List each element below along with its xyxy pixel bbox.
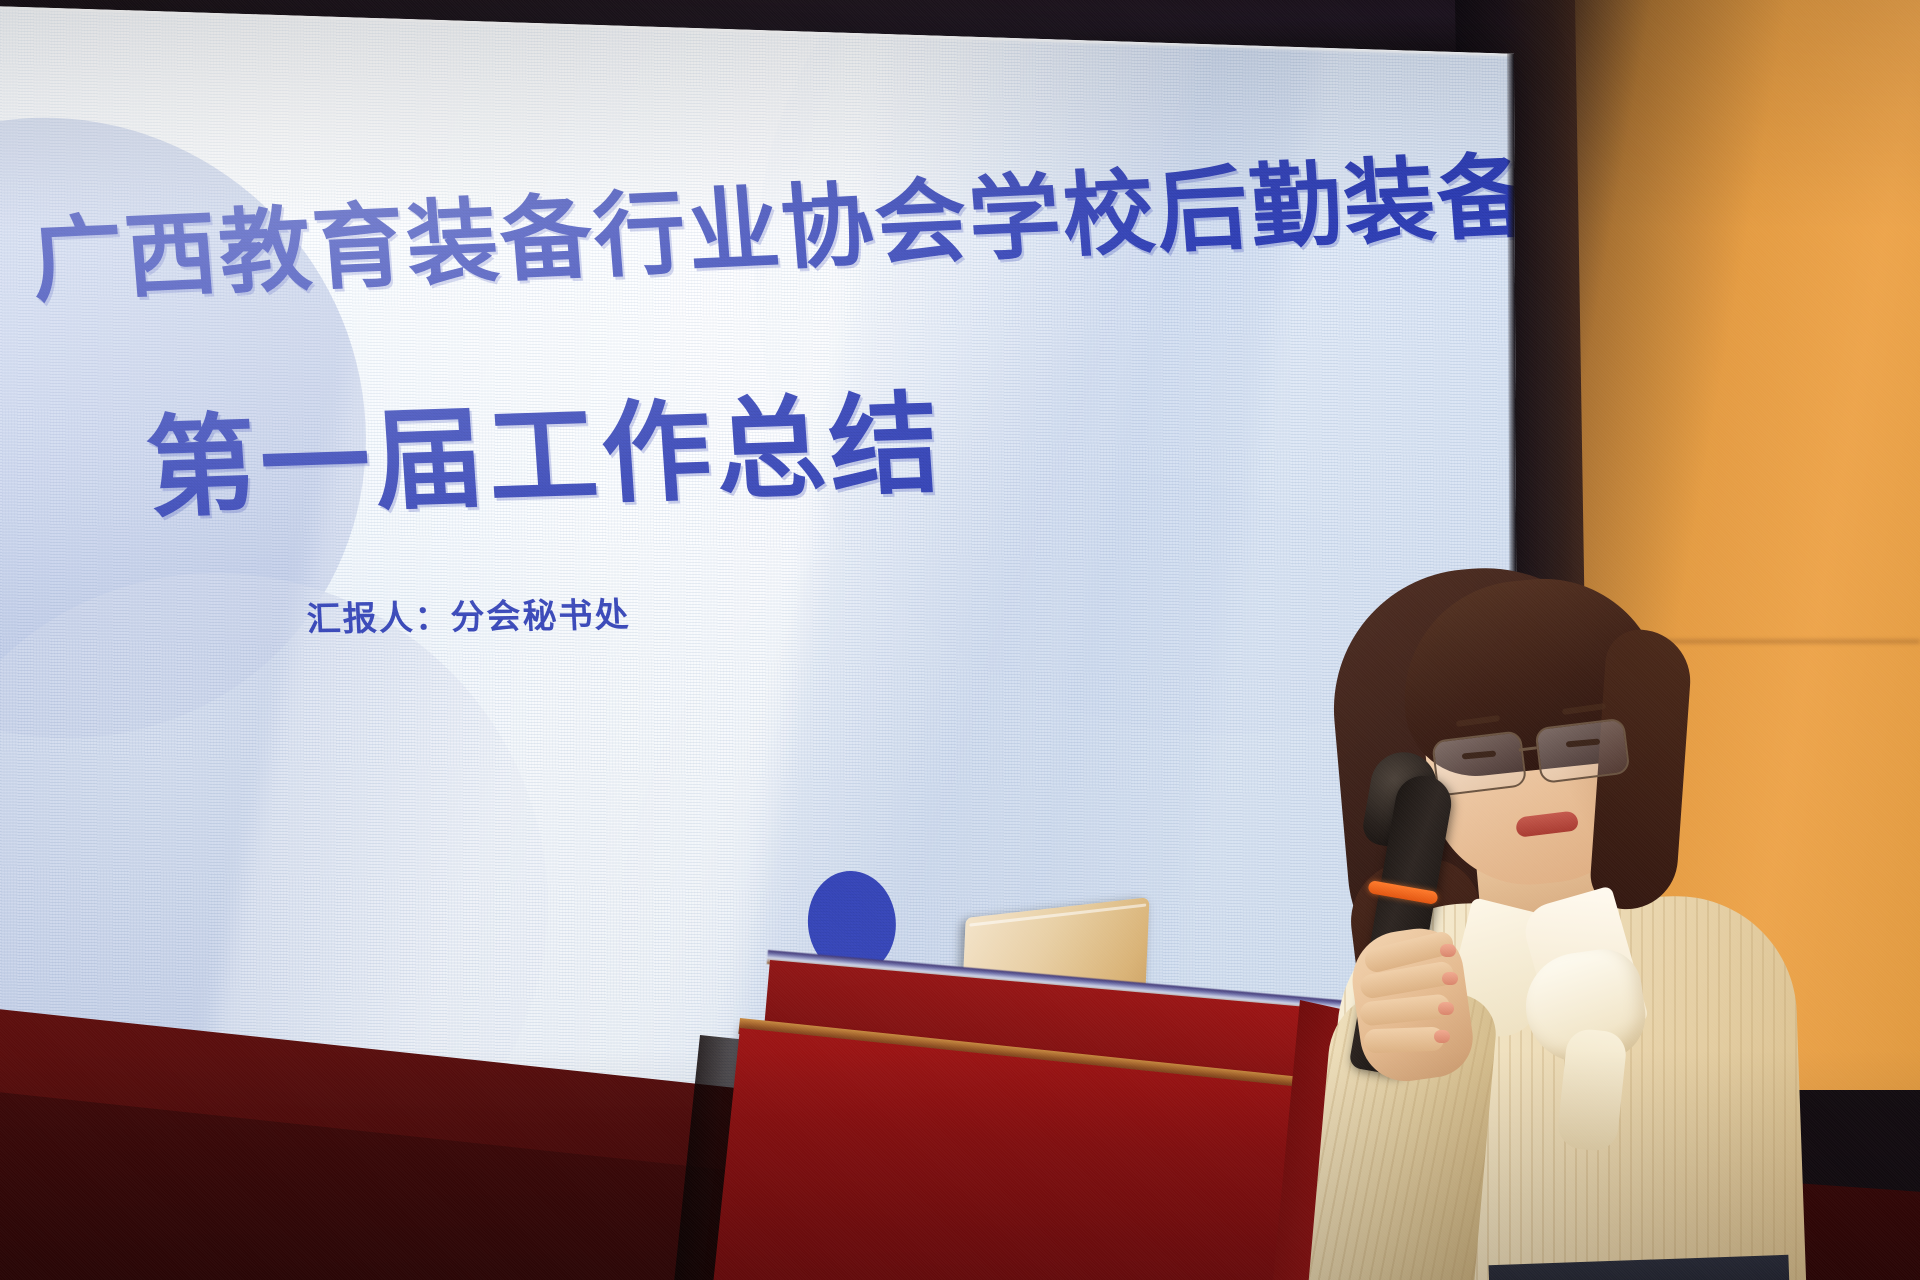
fingernail: [1442, 972, 1458, 985]
fingernail: [1440, 944, 1456, 957]
slide-title-line-2: 第一届工作总结: [141, 354, 948, 539]
fingernail: [1438, 1002, 1454, 1015]
fingernail: [1434, 1030, 1450, 1043]
slide-title-line-1: 广西教育装备行业协会学校后勤装备分会: [26, 113, 1519, 320]
photo-scene: 广西教育装备行业协会学校后勤装备分会 第一届工作总结 汇报人：分会秘书处 hp: [0, 0, 1920, 1280]
glasses-lens-right: [1534, 717, 1630, 784]
glasses-bridge: [1519, 746, 1537, 751]
finger: [1364, 1027, 1445, 1054]
presenter: [1330, 560, 1800, 1280]
slide-subtitle: 汇报人：分会秘书处: [305, 587, 631, 641]
